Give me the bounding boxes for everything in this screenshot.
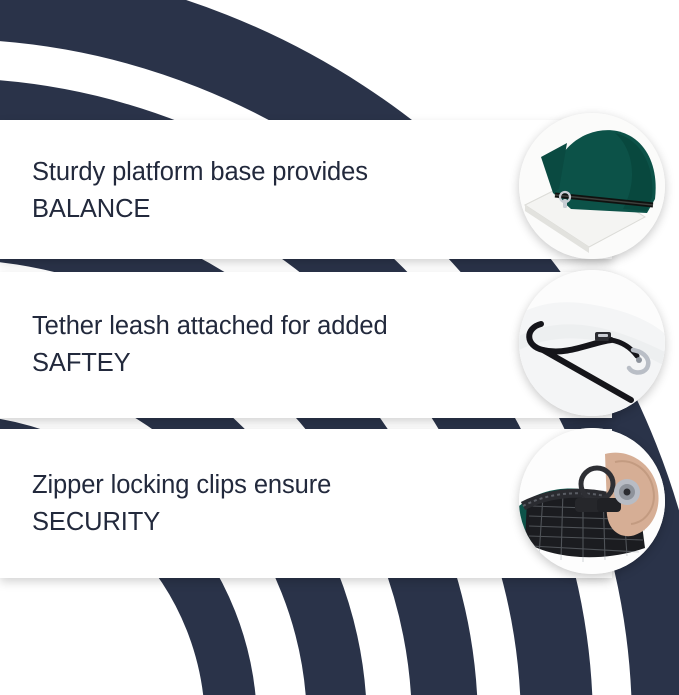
feature-text-balance: Sturdy platform base providesBALANCE: [32, 154, 368, 228]
feature-line2-security: SECURITY: [32, 504, 331, 541]
feature-text-saftey: Tether leash attached for addedSAFTEY: [32, 308, 388, 382]
feature-line1-balance: Sturdy platform base provides: [32, 158, 368, 186]
product-photo-zipper-clips: [519, 428, 665, 574]
feature-line1-security: Zipper locking clips ensure: [32, 471, 331, 499]
feature-line1-saftey: Tether leash attached for added: [32, 312, 388, 340]
product-photo-tether-leash: [519, 270, 665, 416]
feature-line2-saftey: SAFTEY: [32, 345, 388, 382]
product-feature-infographic: Sturdy platform base providesBALANCE Tet…: [0, 0, 679, 695]
feature-line2-balance: BALANCE: [32, 191, 368, 228]
product-photo-platform-base: [519, 113, 665, 259]
feature-text-security: Zipper locking clips ensureSECURITY: [32, 467, 331, 541]
